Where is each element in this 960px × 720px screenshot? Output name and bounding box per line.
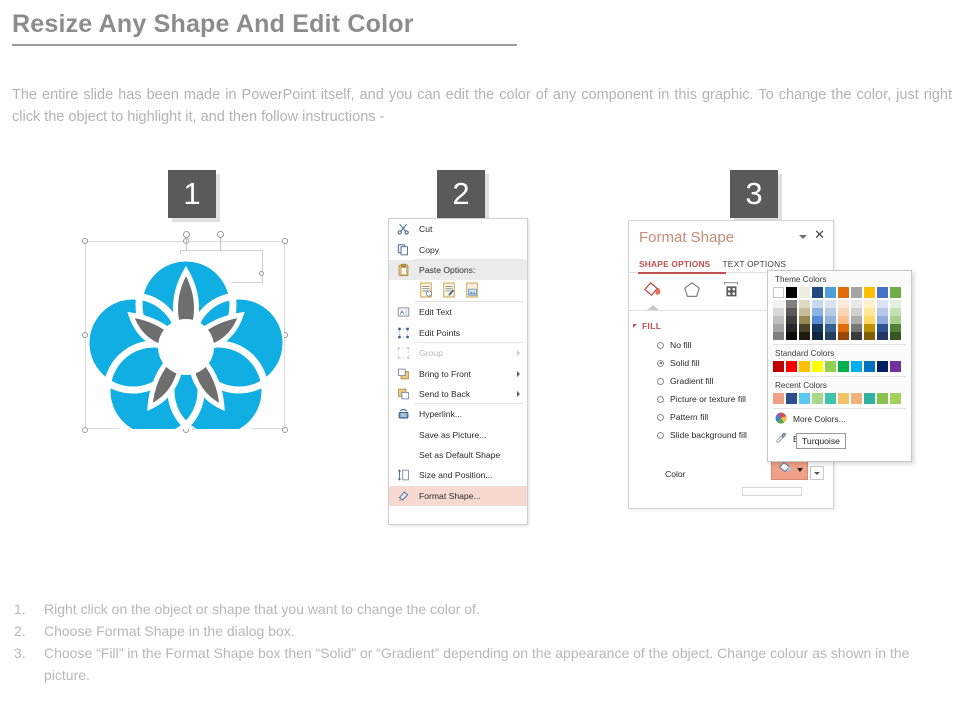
theme-tint-3-3[interactable] — [812, 324, 823, 332]
menu-item-label: Edit Text — [419, 307, 452, 317]
theme-colors-tints[interactable] — [768, 300, 911, 340]
menu-item-set-as-default-shape[interactable]: Set as Default Shape — [389, 445, 527, 465]
theme-tint-4-9[interactable] — [890, 332, 901, 340]
badge-3: 3 — [730, 170, 778, 218]
menu-item-format-shape[interactable]: Format Shape... — [389, 486, 527, 506]
menu-item-label: Paste Options: — [419, 265, 475, 275]
menu-item-edit-points[interactable]: Edit Points — [389, 323, 527, 343]
theme-swatch-8[interactable] — [877, 287, 888, 298]
format-shape-tabs[interactable]: SHAPE OPTIONS TEXT OPTIONS — [639, 259, 786, 269]
menu-item-label: Bring to Front — [419, 369, 471, 379]
standard-colors-heading: Standard Colors — [768, 345, 911, 361]
rotate-handle-1[interactable] — [183, 231, 190, 238]
chevron-down-icon[interactable] — [797, 468, 803, 472]
theme-tint-0-4[interactable] — [825, 300, 836, 308]
theme-tint-2-6[interactable] — [851, 316, 862, 324]
theme-tint-4-6[interactable] — [851, 332, 862, 340]
radio-icon-selected[interactable] — [657, 360, 664, 367]
title-underline — [12, 44, 517, 46]
color-tooltip: Turquoise — [796, 433, 846, 449]
theme-tint-1-3[interactable] — [812, 308, 823, 316]
theme-tint-4-0[interactable] — [773, 332, 784, 340]
menu-item-label: Set as Default Shape — [419, 450, 500, 460]
effects-icon[interactable] — [681, 280, 703, 305]
theme-tint-0-2[interactable] — [799, 300, 810, 308]
theme-tint-1-9[interactable] — [890, 308, 901, 316]
five-petal-flower-shape[interactable] — [88, 243, 284, 429]
theme-tint-1-5[interactable] — [838, 308, 849, 316]
radio-icon[interactable] — [657, 378, 664, 385]
fill-option-gradient-fill[interactable]: Gradient fill — [657, 376, 713, 386]
recent-swatch-5[interactable] — [838, 393, 849, 404]
scissors-icon — [397, 223, 410, 236]
tab-text-options[interactable]: TEXT OPTIONS — [722, 259, 786, 269]
eyedropper-icon — [775, 432, 787, 446]
transparency-field[interactable] — [742, 487, 802, 496]
theme-tint-2-5[interactable] — [838, 316, 849, 324]
theme-tint-0-9[interactable] — [890, 300, 901, 308]
menu-item-hyperlink[interactable]: Hyperlink... — [389, 404, 527, 424]
bring-to-front-icon — [397, 367, 410, 380]
theme-tint-3-9[interactable] — [890, 324, 901, 332]
size-and-properties-icon[interactable] — [720, 280, 742, 305]
format-shape-icon — [397, 489, 410, 502]
format-shape-title: Format Shape — [639, 229, 734, 246]
submenu-arrow-icon — [517, 391, 520, 397]
fill-option-pattern-fill[interactable]: Pattern fill — [657, 412, 708, 422]
theme-tint-3-0[interactable] — [773, 324, 784, 332]
copy-icon — [397, 243, 410, 256]
radio-icon[interactable] — [657, 342, 664, 349]
standard-swatch-6[interactable] — [851, 361, 862, 372]
group-icon — [397, 347, 410, 360]
theme-tint-0-7[interactable] — [864, 300, 875, 308]
submenu-arrow-icon — [517, 371, 520, 377]
theme-tint-4-3[interactable] — [812, 332, 823, 340]
context-menu[interactable]: Cut Copy Paste Options: — [388, 218, 528, 525]
more-colors-item[interactable]: More Colors... — [768, 409, 911, 429]
standard-swatch-2[interactable] — [799, 361, 810, 372]
submenu-arrow-icon — [517, 350, 520, 356]
theme-tint-row-4[interactable] — [768, 332, 911, 340]
fill-option-slide-background-fill[interactable]: Slide background fill — [657, 430, 747, 440]
more-colors-label: More Colors... — [793, 414, 846, 424]
rotate-handle-2[interactable] — [217, 231, 224, 238]
theme-colors-base-row[interactable] — [768, 287, 911, 298]
menu-item-paste-options: Paste Options: — [389, 260, 527, 280]
paste-picture-icon[interactable] — [465, 282, 479, 300]
menu-item-label: Size and Position... — [419, 470, 493, 480]
menu-item-size-and-position[interactable]: Size and Position... — [389, 465, 527, 485]
svg-text:A: A — [400, 310, 405, 317]
step-number: 3. — [14, 642, 44, 686]
recent-swatch-1[interactable] — [786, 393, 797, 404]
fill-option-picture-or-texture-fill[interactable]: Picture or texture fill — [657, 394, 746, 404]
menu-item-save-as-picture[interactable]: Save as Picture... — [389, 425, 527, 445]
theme-tint-2-8[interactable] — [877, 316, 888, 324]
theme-tint-0-3[interactable] — [812, 300, 823, 308]
flower-center — [158, 319, 214, 375]
size-position-icon — [397, 469, 410, 482]
theme-tint-row-2[interactable] — [768, 316, 911, 324]
list-item: 2. Choose Format Shape in the dialog box… — [14, 620, 944, 642]
color-label: Color — [665, 469, 686, 479]
fill-option-label: Pattern fill — [670, 412, 708, 422]
menu-item-label: Format Shape... — [419, 491, 481, 501]
menu-item-group[interactable]: Group — [389, 343, 527, 363]
theme-tint-3-5[interactable] — [838, 324, 849, 332]
step-number: 2. — [14, 620, 44, 642]
menu-item-label: Edit Points — [419, 328, 460, 338]
theme-tint-0-1[interactable] — [786, 300, 797, 308]
menu-item-label: Send to Back — [419, 389, 470, 399]
standard-swatch-7[interactable] — [864, 361, 875, 372]
theme-tint-4-8[interactable] — [877, 332, 888, 340]
fill-option-label: Gradient fill — [670, 376, 713, 386]
theme-tint-1-1[interactable] — [786, 308, 797, 316]
theme-tint-2-7[interactable] — [864, 316, 875, 324]
fill-collapse-icon[interactable] — [633, 324, 637, 328]
radio-icon[interactable] — [657, 414, 664, 421]
fill-color-button[interactable] — [771, 459, 808, 480]
standard-swatch-0[interactable] — [773, 361, 784, 372]
theme-tint-3-8[interactable] — [877, 324, 888, 332]
fill-option-solid-fill[interactable]: Solid fill — [657, 358, 700, 368]
recent-swatch-9[interactable] — [890, 393, 901, 404]
close-icon[interactable]: ✕ — [814, 228, 825, 241]
tab-shape-options[interactable]: SHAPE OPTIONS — [639, 259, 710, 269]
chevron-down-icon[interactable] — [799, 235, 807, 239]
recent-colors-heading: Recent Colors — [768, 377, 911, 393]
theme-tint-2-0[interactable] — [773, 316, 784, 324]
theme-tint-1-0[interactable] — [773, 308, 784, 316]
recent-swatch-8[interactable] — [877, 393, 888, 404]
recent-swatch-6[interactable] — [851, 393, 862, 404]
paste-theme-icon[interactable] — [442, 282, 456, 300]
menu-item-label: Cut — [419, 224, 432, 234]
theme-swatch-1[interactable] — [786, 287, 797, 298]
theme-swatch-0[interactable] — [773, 287, 784, 298]
menu-item-copy[interactable]: Copy — [389, 239, 527, 259]
theme-tint-row-1[interactable] — [768, 308, 911, 316]
active-tab-underline — [638, 272, 726, 274]
standard-swatch-8[interactable] — [877, 361, 888, 372]
recent-swatch-0[interactable] — [773, 393, 784, 404]
instruction-list: 1. Right click on the object or shape th… — [14, 598, 944, 686]
theme-tint-0-6[interactable] — [851, 300, 862, 308]
theme-tint-3-1[interactable] — [786, 324, 797, 332]
hyperlink-icon — [397, 408, 410, 421]
theme-tint-1-7[interactable] — [864, 308, 875, 316]
page-title: Resize Any Shape And Edit Color — [12, 10, 414, 39]
standard-swatch-1[interactable] — [786, 361, 797, 372]
theme-tint-4-2[interactable] — [799, 332, 810, 340]
send-to-back-icon — [397, 387, 410, 400]
menu-item-label: Save as Picture... — [419, 430, 486, 440]
standard-swatch-5[interactable] — [838, 361, 849, 372]
theme-tint-2-2[interactable] — [799, 316, 810, 324]
intro-paragraph: The entire slide has been made in PowerP… — [12, 84, 952, 128]
theme-tint-0-0[interactable] — [773, 300, 784, 308]
slide-canvas: Resize Any Shape And Edit Color The enti… — [0, 0, 960, 720]
fill-option-label: No fill — [670, 340, 692, 350]
theme-tint-3-7[interactable] — [864, 324, 875, 332]
theme-swatch-7[interactable] — [864, 287, 875, 298]
theme-tint-1-4[interactable] — [825, 308, 836, 316]
menu-item-bring-to-front[interactable]: Bring to Front — [389, 363, 527, 383]
standard-swatch-3[interactable] — [812, 361, 823, 372]
fill-option-label: Slide background fill — [670, 430, 747, 440]
menu-item-label: Copy — [419, 245, 439, 255]
standard-colors-row[interactable] — [768, 361, 911, 372]
theme-tint-4-1[interactable] — [786, 332, 797, 340]
list-item: 3. Choose “Fill” in the Format Shape box… — [14, 642, 944, 686]
clipboard-icon — [397, 263, 410, 276]
edit-points-icon — [397, 326, 410, 339]
theme-tint-4-7[interactable] — [864, 332, 875, 340]
transparency-spinner[interactable] — [810, 466, 824, 480]
recent-swatch-3[interactable] — [812, 393, 823, 404]
theme-tint-3-4[interactable] — [825, 324, 836, 332]
theme-tint-3-2[interactable] — [799, 324, 810, 332]
radio-icon[interactable] — [657, 396, 664, 403]
theme-tint-1-6[interactable] — [851, 308, 862, 316]
color-wheel-icon — [775, 412, 787, 426]
step-text: Choose “Fill” in the Format Shape box th… — [44, 642, 944, 686]
paste-keep-source-icon[interactable] — [419, 282, 433, 300]
theme-colors-heading: Theme Colors — [768, 271, 911, 287]
theme-tint-4-4[interactable] — [825, 332, 836, 340]
edit-text-icon: A — [397, 306, 410, 319]
recent-swatch-4[interactable] — [825, 393, 836, 404]
theme-tint-2-4[interactable] — [825, 316, 836, 324]
fill-bucket-icon — [776, 459, 794, 480]
badge-1: 1 — [168, 170, 216, 218]
step-text: Choose Format Shape in the dialog box. — [44, 620, 944, 642]
theme-swatch-2[interactable] — [799, 287, 810, 298]
theme-tint-3-6[interactable] — [851, 324, 862, 332]
list-item: 1. Right click on the object or shape th… — [14, 598, 944, 620]
chevron-down-icon — [814, 472, 820, 475]
fill-option-label: Picture or texture fill — [670, 394, 746, 404]
theme-tint-row-3[interactable] — [768, 324, 911, 332]
theme-swatch-3[interactable] — [812, 287, 823, 298]
theme-tint-1-2[interactable] — [799, 308, 810, 316]
step-number: 1. — [14, 598, 44, 620]
radio-icon[interactable] — [657, 432, 664, 439]
theme-tint-2-1[interactable] — [786, 316, 797, 324]
theme-tint-row-0[interactable] — [768, 300, 911, 308]
fill-section-header: FILL — [642, 321, 661, 331]
fill-and-line-icon[interactable] — [641, 279, 664, 305]
menu-item-label: Hyperlink... — [419, 409, 462, 419]
standard-swatch-4[interactable] — [825, 361, 836, 372]
standard-swatch-9[interactable] — [890, 361, 901, 372]
recent-swatch-2[interactable] — [799, 393, 810, 404]
fill-option-no-fill[interactable]: No fill — [657, 340, 692, 350]
recent-colors-row[interactable] — [768, 393, 911, 404]
theme-swatch-6[interactable] — [851, 287, 862, 298]
menu-item-cut[interactable]: Cut — [389, 219, 527, 239]
theme-tint-0-5[interactable] — [838, 300, 849, 308]
format-shape-tool-icons[interactable] — [641, 279, 742, 305]
theme-tint-0-8[interactable] — [877, 300, 888, 308]
theme-tint-1-8[interactable] — [877, 308, 888, 316]
theme-tint-2-9[interactable] — [890, 316, 901, 324]
menu-item-send-to-back[interactable]: Send to Back — [389, 384, 527, 404]
menu-item-edit-text[interactable]: A Edit Text — [389, 302, 527, 322]
fill-option-label: Solid fill — [670, 358, 700, 368]
theme-tint-4-5[interactable] — [838, 332, 849, 340]
theme-tint-2-3[interactable] — [812, 316, 823, 324]
theme-swatch-5[interactable] — [838, 287, 849, 298]
menu-item-label: Group — [419, 348, 443, 358]
theme-swatch-4[interactable] — [825, 287, 836, 298]
badge-2: 2 — [437, 170, 485, 218]
theme-swatch-9[interactable] — [890, 287, 901, 298]
step-text: Right click on the object or shape that … — [44, 598, 944, 620]
recent-swatch-7[interactable] — [864, 393, 875, 404]
paste-options-row[interactable] — [389, 280, 527, 302]
